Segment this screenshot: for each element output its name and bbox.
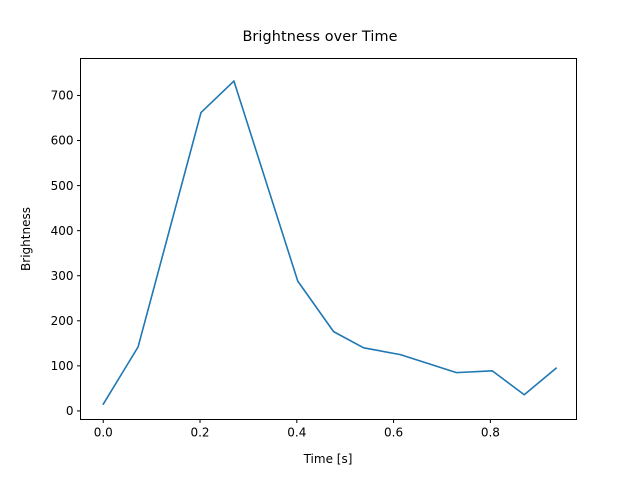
y-tick-label: 300 — [51, 269, 74, 283]
y-tick-label: 100 — [51, 359, 74, 373]
matplotlib-figure: Brightness over Time 0.00.20.40.60.8 010… — [0, 0, 640, 480]
y-tick-label: 0 — [66, 404, 74, 418]
y-axis-label: Brightness — [19, 207, 33, 271]
x-axis-label: Time [s] — [303, 452, 353, 466]
x-tick-label: 0.0 — [94, 426, 113, 440]
x-axis-ticks: 0.00.20.40.60.8 — [94, 420, 500, 440]
x-tick-label: 0.4 — [287, 426, 306, 440]
x-tick-label: 0.2 — [190, 426, 209, 440]
y-tick-label: 700 — [51, 89, 74, 103]
x-tick-label: 0.8 — [481, 426, 500, 440]
y-tick-label: 600 — [51, 134, 74, 148]
plot-area: 0.00.20.40.60.8 0100200300400500600700 T… — [0, 0, 640, 480]
y-tick-label: 500 — [51, 179, 74, 193]
y-tick-label: 400 — [51, 224, 74, 238]
axes-frame — [81, 59, 577, 420]
y-tick-label: 200 — [51, 314, 74, 328]
x-tick-label: 0.6 — [384, 426, 403, 440]
y-axis-ticks: 0100200300400500600700 — [51, 89, 81, 418]
